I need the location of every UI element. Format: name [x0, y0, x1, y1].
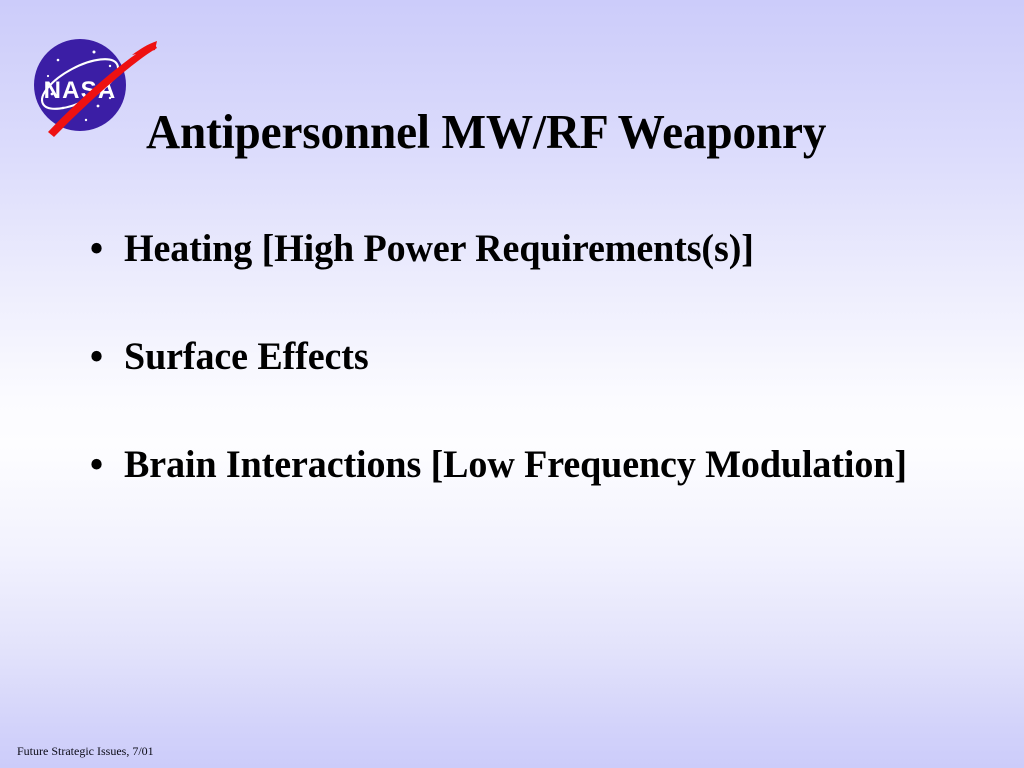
slide-title: Antipersonnel MW/RF Weaponry: [146, 104, 899, 160]
bullet-text: Surface Effects: [124, 330, 924, 384]
bullet-marker-icon: •: [90, 330, 110, 384]
slide-footer: Future Strategic Issues, 7/01: [17, 744, 154, 759]
bullet-marker-icon: •: [90, 222, 110, 276]
bullet-text: Heating [High Power Requirements(s)]: [124, 222, 924, 276]
bullet-marker-icon: •: [90, 438, 110, 492]
nasa-logo: NASA: [28, 32, 160, 140]
bullet-item-heating: • Heating [High Power Requirements(s)]: [86, 222, 925, 276]
bullet-list: • Heating [High Power Requirements(s)] •…: [86, 222, 946, 492]
bullet-text: Brain Interactions [Low Frequency Modula…: [124, 438, 924, 492]
presentation-slide: NASA Antipersonnel MW/RF Weaponry • Heat…: [0, 0, 1024, 768]
bullet-item-surface-effects: • Surface Effects: [86, 330, 925, 384]
bullet-item-brain-interactions: • Brain Interactions [Low Frequency Modu…: [86, 438, 925, 492]
